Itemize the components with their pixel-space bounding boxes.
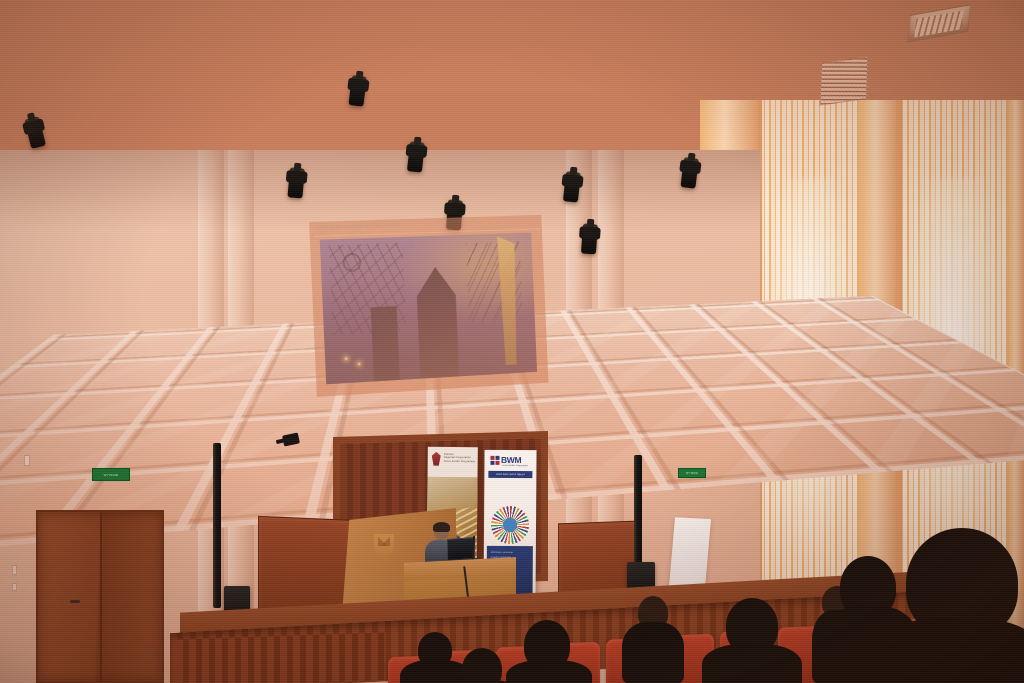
bwm-wordmark: BWM (501, 456, 521, 465)
square-diffuser-vent-icon (819, 56, 868, 105)
stage-spotlight-6 (581, 223, 598, 254)
exit-sign-left: WYJSCIE (92, 468, 130, 481)
bwm-checker-icon (490, 456, 499, 465)
column-speaker-right (634, 455, 642, 575)
audience-head (462, 648, 502, 683)
wall-upper-shading (0, 150, 760, 230)
stage-spotlight-1 (348, 75, 367, 107)
wall-switch-plate-2[interactable] (12, 583, 17, 591)
slide-street-lamp-1 (345, 357, 348, 360)
projection-screen: Kosciol pw. sw. Mikolaja - Nowy Ruda (309, 215, 548, 397)
column-speaker-left (213, 443, 221, 608)
institute-logo-icon (432, 452, 441, 466)
stage-spotlight-3 (407, 141, 425, 172)
audience-body (506, 660, 592, 683)
stage-spotlight-2 (287, 167, 305, 198)
wall-switch-plate-1[interactable] (12, 565, 17, 575)
bwm-logo: BWM (490, 456, 533, 465)
side-exit-door[interactable] (36, 510, 164, 683)
projected-slide-image (320, 233, 537, 385)
photograph-auditorium: Kosciol pw. sw. Mikolaja - Nowy Ruda Ins… (0, 0, 1024, 683)
stage-spotlight-5 (563, 171, 581, 202)
bwm-subtitle: cross-border cooperation (502, 465, 528, 467)
white-rollup-banner (669, 517, 711, 589)
institute-logo-text: Institute Regional Cooperation Cross-bor… (444, 453, 476, 464)
exit-sign-right: WYJSCIE (678, 468, 706, 478)
audience-body (702, 644, 802, 683)
institute-line-3: Cross-border Programme (444, 460, 476, 464)
audience-body-foreground (878, 618, 1024, 683)
slide-street-lamp-2 (358, 362, 361, 365)
slide-caption: Kosciol pw. sw. Mikolaja - Nowy Ruda (317, 222, 399, 230)
stage-step (176, 632, 386, 683)
bwm-flag-wheel-graphic (491, 506, 529, 544)
stage-spotlight-8 (24, 116, 46, 149)
wall-fixture-plate (24, 455, 30, 466)
audience-body (622, 622, 684, 683)
linear-slot-vent-icon (907, 4, 971, 44)
slide-church-tower (371, 306, 400, 382)
presenter-hair (433, 522, 450, 532)
door-handle-icon[interactable] (70, 600, 80, 603)
bwm-url-bar: www.bwm.pwsz.tgw.pl (488, 471, 532, 478)
